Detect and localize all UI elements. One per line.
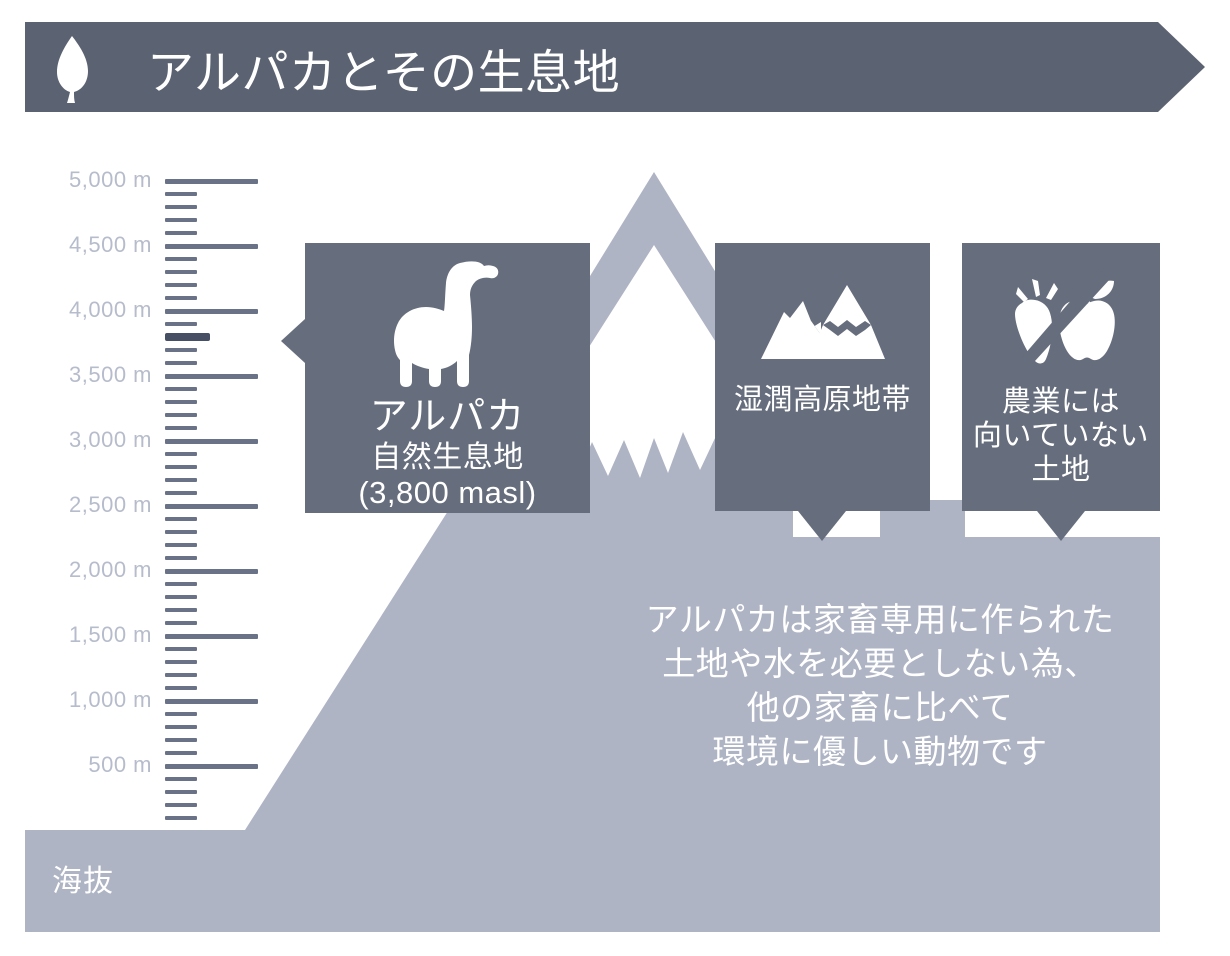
page-title: アルパカとその生息地 bbox=[147, 46, 620, 100]
header: アルパカとその生息地 bbox=[0, 0, 1230, 951]
header-banner: アルパカとその生息地 bbox=[25, 22, 1205, 112]
infographic-canvas: 5,000 m4,500 m4,000 m3,500 m3,000 m2,500… bbox=[0, 0, 1230, 951]
